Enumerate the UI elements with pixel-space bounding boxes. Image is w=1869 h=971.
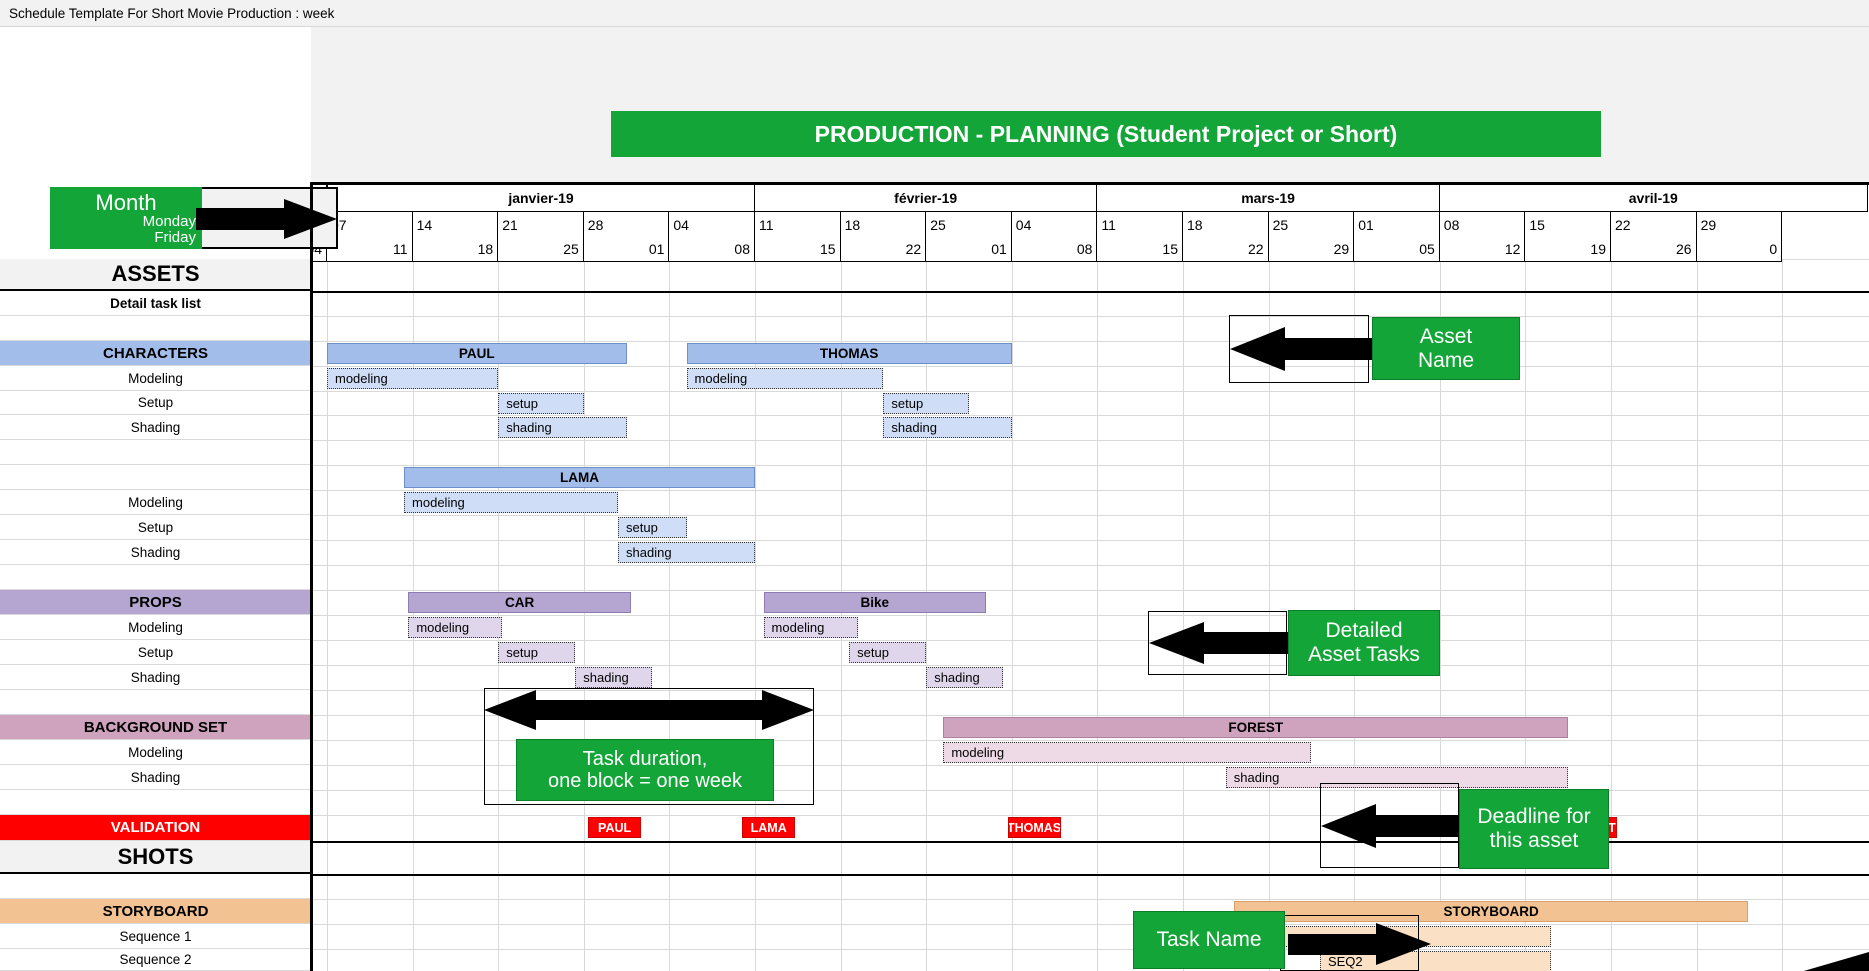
weekrow2-cell-8: 08 <box>1012 237 1098 262</box>
weekrow2-cell-label: 15 <box>1162 241 1178 257</box>
window-title: Schedule Template For Short Movie Produc… <box>9 6 334 21</box>
weekrow2-cell-2: 25 <box>498 237 584 262</box>
sidebar-item-bg-modeling[interactable]: Modeling <box>0 740 311 765</box>
weekrow2-cell-label: 08 <box>734 241 750 257</box>
annotation-deadline-text: Deadline for this asset <box>1477 805 1590 852</box>
gantt-bar-lama-setup[interactable]: setup <box>618 517 686 538</box>
annotation-task-name: Task Name <box>1133 911 1285 969</box>
sidebar-item-assets[interactable]: ASSETS <box>0 259 311 291</box>
legend-monday-label: Monday <box>143 214 202 230</box>
weekrow1-cell-label: 22 <box>1615 217 1631 233</box>
monday-row: 310714212804111825041118250108152229 <box>311 212 1869 237</box>
weekrow2-cell-label: 08 <box>1077 241 1093 257</box>
gantt-bar-label: setup <box>506 645 538 660</box>
weekrow1-cell-12: 01 <box>1354 212 1440 237</box>
sidebar-item-validation[interactable]: VALIDATION <box>0 815 311 841</box>
grid-hline <box>311 415 1869 416</box>
grid-hline <box>311 640 1869 641</box>
task-name-arrow-icon <box>1288 923 1433 965</box>
grid-hline <box>311 465 1869 466</box>
weekrow1-cell-label: 18 <box>1187 217 1203 233</box>
gantt-bar-car-mod[interactable]: modeling <box>408 617 502 638</box>
validation-marker-label: PAUL <box>598 821 631 835</box>
weekrow2-cell-4: 08 <box>669 237 755 262</box>
weekrow1-cell-15: 22 <box>1611 212 1697 237</box>
month-header-3: avril-19 <box>1440 185 1868 212</box>
month-header-label: avril-19 <box>1629 190 1678 206</box>
gantt-bar-paul-mod[interactable]: modeling <box>327 368 498 389</box>
gantt-bar-thomas-mod[interactable]: modeling <box>687 368 884 389</box>
grid-hline <box>311 440 1869 441</box>
row-label-column: ASSETS Detail task list CHARACTERS Model… <box>0 27 311 971</box>
weekrow1-cell-2: 21 <box>498 212 584 237</box>
weekrow2-cell-11: 29 <box>1269 237 1355 262</box>
month-header-2: mars-19 <box>1097 185 1439 212</box>
sidebar-item-storyboard[interactable]: STORYBOARD <box>0 899 311 924</box>
weekrow1-cell-label: 18 <box>845 217 861 233</box>
sidebar-spacer-1 <box>0 316 311 341</box>
gantt-bar-lama-mod[interactable]: modeling <box>404 492 618 513</box>
weekrow1-cell-14: 15 <box>1525 212 1611 237</box>
gantt-bar-label: PAUL <box>459 346 495 361</box>
gantt-bar-label: modeling <box>416 620 469 635</box>
month-header-label: janvier-19 <box>508 190 573 206</box>
weekrow1-cell-label: 04 <box>673 217 689 233</box>
validation-marker-thomas[interactable]: THOMAS <box>1008 817 1061 838</box>
weekrow1-cell-7: 25 <box>926 212 1012 237</box>
month-row: janvier-19février-19mars-19avril-19 <box>311 185 1869 212</box>
grid-hline <box>311 841 1869 843</box>
validation-marker-label: THOMAS <box>1008 821 1061 835</box>
weekrow1-cell-label: 04 <box>1016 217 1032 233</box>
weekrow2-cell-10: 22 <box>1183 237 1269 262</box>
annotation-deadline: Deadline for this asset <box>1459 789 1609 869</box>
grid-hline <box>311 815 1869 816</box>
weekrow1-cell-3: 28 <box>584 212 670 237</box>
sidebar-item-lama-setup[interactable]: Setup <box>0 515 311 540</box>
weekrow2-cell-9: 15 <box>1097 237 1183 262</box>
weekrow1-cell-label: 14 <box>417 217 433 233</box>
annotation-asset-name-text: Asset Name <box>1418 325 1474 372</box>
weekrow1-cell-label: 11 <box>1101 217 1116 233</box>
weekrow1-cell-label: 29 <box>1701 217 1717 233</box>
sidebar-item-props-modeling[interactable]: Modeling <box>0 615 311 640</box>
weekrow2-cell-5: 15 <box>755 237 841 262</box>
weekrow1-cell-11: 25 <box>1269 212 1355 237</box>
gantt-bar-label: shading <box>506 420 552 435</box>
sidebar-item-props-shading[interactable]: Shading <box>0 665 311 690</box>
gantt-bar-label: setup <box>626 520 658 535</box>
gantt-area[interactable]: PAULmodelingsetupshadingTHOMASmodelingse… <box>311 27 1869 971</box>
gantt-bar-thomas-shad[interactable]: shading <box>883 417 1011 438</box>
grid-hline <box>311 391 1869 392</box>
sidebar-item-char-modeling[interactable]: Modeling <box>0 366 311 391</box>
weekrow2-cell-label: 15 <box>820 241 836 257</box>
weekrow2-cell-label: 12 <box>1505 241 1521 257</box>
sidebar-item-props[interactable]: PROPS <box>0 590 311 615</box>
sidebar-spacer-2 <box>0 440 311 465</box>
weekrow2-cell-6: 22 <box>841 237 927 262</box>
weekrow2-cell-label: 0 <box>1769 241 1777 257</box>
sidebar-item-lama-shading[interactable]: Shading <box>0 540 311 565</box>
gantt-bar-label: THOMAS <box>820 346 879 361</box>
sidebar-item-sequence-1[interactable]: Sequence 1 <box>0 924 311 949</box>
gantt-bar-bike[interactable]: Bike <box>764 592 987 613</box>
weekrow2-cell-label: 29 <box>1334 241 1350 257</box>
grid-hline <box>311 874 1869 876</box>
gantt-bar-label: modeling <box>335 371 388 386</box>
weekrow2-cell-label: 26 <box>1676 241 1692 257</box>
sidebar-spacer-7 <box>0 874 311 899</box>
sidebar-item-char-shading[interactable]: Shading <box>0 415 311 440</box>
weekrow1-cell-16: 29 <box>1697 212 1783 237</box>
sidebar-spacer-6 <box>0 790 311 815</box>
window-title-bar: Schedule Template For Short Movie Produc… <box>0 0 1869 27</box>
deadline-arrow-icon <box>1320 804 1465 848</box>
weekrow1-cell-10: 18 <box>1183 212 1269 237</box>
weekrow1-cell-6: 18 <box>841 212 927 237</box>
gantt-bar-label: LAMA <box>560 470 599 485</box>
spreadsheet-canvas[interactable]: CGWIRE PRODUCTION - PLANNING (Student Pr… <box>0 27 1869 971</box>
weekrow1-cell-label: 15 <box>1529 217 1545 233</box>
grid-hline <box>311 515 1869 516</box>
weekrow1-cell-8: 04 <box>1012 212 1098 237</box>
weekrow2-cell-3: 01 <box>584 237 670 262</box>
timeline-header: janvier-19février-19mars-19avril-19 3107… <box>311 182 1869 259</box>
grid-hline <box>311 341 1869 342</box>
validation-marker-label: LAMA <box>751 821 787 835</box>
weekrow1-cell-label: 28 <box>588 217 604 233</box>
weekrow2-cell-14: 19 <box>1525 237 1611 262</box>
banner-text: PRODUCTION - PLANNING (Student Project o… <box>815 121 1398 148</box>
asset-name-arrow-icon <box>1229 327 1374 371</box>
weekrow2-cell-label: 01 <box>649 241 665 257</box>
annotation-asset-name: Asset Name <box>1372 317 1520 380</box>
sidebar-item-lama-modeling[interactable]: Modeling <box>0 490 311 515</box>
production-planning-banner: PRODUCTION - PLANNING (Student Project o… <box>611 111 1601 157</box>
gantt-bar-bike-mod[interactable]: modeling <box>764 617 858 638</box>
sidebar-item-sequence-2[interactable]: Sequence 2 <box>0 949 311 971</box>
month-header-1: février-19 <box>755 185 1097 212</box>
annotation-task-name-text: Task Name <box>1156 928 1261 952</box>
weekrow2-cell-label: 05 <box>1419 241 1435 257</box>
weekrow1-cell-label: 01 <box>1358 217 1374 233</box>
gantt-bar-paul-setup[interactable]: setup <box>498 393 584 414</box>
weekrow2-cell-label: 22 <box>906 241 922 257</box>
gantt-bar-label: Bike <box>861 595 890 610</box>
month-legend: Month Monday Friday <box>50 187 202 249</box>
weekrow2-cell-label: 18 <box>478 241 494 257</box>
month-legend-arrow-icon <box>196 199 338 239</box>
gantt-bar-label: CAR <box>505 595 534 610</box>
gantt-bar-paul-shad[interactable]: shading <box>498 417 626 438</box>
month-header-0: janvier-19 <box>327 185 755 212</box>
weekrow2-cell-label: 01 <box>991 241 1007 257</box>
sidebar-item-shots[interactable]: SHOTS <box>0 841 311 874</box>
legend-month-label: Month <box>95 191 156 214</box>
weekrow2-cell-7: 01 <box>926 237 1012 262</box>
task-duration-double-arrow-icon <box>484 690 814 730</box>
grid-hline <box>311 899 1869 900</box>
gantt-bar-label: setup <box>506 396 538 411</box>
gantt-bar-lama[interactable]: LAMA <box>404 467 755 488</box>
grid-hline <box>311 615 1869 616</box>
bottom-right-arrow-icon <box>1790 952 1869 971</box>
month-header-label: février-19 <box>894 190 957 206</box>
gantt-bar-thomas[interactable]: THOMAS <box>687 343 1012 364</box>
annotation-detailed-asset-tasks: Detailed Asset Tasks <box>1288 610 1440 676</box>
gantt-bar-lama-shad[interactable]: shading <box>618 542 755 563</box>
weekrow1-cell-label: 11 <box>759 217 774 233</box>
weekrow2-cell-12: 05 <box>1354 237 1440 262</box>
gantt-bar-label: shading <box>891 420 937 435</box>
gantt-bar-label: STORYBOARD <box>1444 904 1539 919</box>
sidebar-spacer-3 <box>0 465 311 490</box>
sidebar-item-detail-task-list[interactable]: Detail task list <box>0 291 311 316</box>
weekrow2-cell-label: 11 <box>393 241 408 257</box>
weekrow1-cell-9: 11 <box>1097 212 1183 237</box>
gantt-bar-car-shad[interactable]: shading <box>575 667 652 688</box>
weekrow1-cell-label: 21 <box>502 217 518 233</box>
grid-hline <box>311 665 1869 666</box>
sidebar-item-background-set[interactable]: BACKGROUND SET <box>0 715 311 740</box>
grid-hline <box>311 924 1869 925</box>
weekrow1-cell-label: 25 <box>930 217 946 233</box>
validation-marker-paul[interactable]: PAUL <box>588 817 641 838</box>
weekrow1-cell-1: 14 <box>413 212 499 237</box>
weekrow1-cell-label: 25 <box>1273 217 1289 233</box>
annotation-detailed-asset-tasks-text: Detailed Asset Tasks <box>1308 619 1420 666</box>
annotation-task-duration: Task duration, one block = one week <box>516 739 774 801</box>
gantt-bar-paul[interactable]: PAUL <box>327 343 627 364</box>
friday-row: 04111825010815220108152229051219260 <box>311 237 1869 262</box>
gantt-bar-label: modeling <box>772 620 825 635</box>
weekrow2-cell-label: 22 <box>1248 241 1264 257</box>
grid-hline <box>311 366 1869 367</box>
sidebar-item-bg-shading[interactable]: Shading <box>0 765 311 790</box>
grid-hline <box>311 590 1869 591</box>
gantt-bar-label: shading <box>583 670 629 685</box>
gantt-bar-label: modeling <box>412 495 465 510</box>
weekrow1-cell-5: 11 <box>755 212 841 237</box>
sidebar-item-props-setup[interactable]: Setup <box>0 640 311 665</box>
gantt-bar-bike-shad[interactable]: shading <box>926 667 1003 688</box>
validation-marker-lama[interactable]: LAMA <box>742 817 795 838</box>
sidebar-spacer-4 <box>0 565 311 590</box>
sidebar-item-characters[interactable]: CHARACTERS <box>0 341 311 366</box>
gantt-bar-label: shading <box>934 670 980 685</box>
grid-hline <box>311 540 1869 541</box>
gantt-bar-forest-mod[interactable]: modeling <box>943 742 1311 763</box>
weekrow1-cell-4: 04 <box>669 212 755 237</box>
left-column-divider <box>310 182 313 971</box>
weekrow2-cell-0: 11 <box>327 237 413 262</box>
grid-hline <box>311 949 1869 950</box>
weekrow1-cell-0: 07 <box>327 212 413 237</box>
weekrow1-cell-13: 08 <box>1440 212 1526 237</box>
grid-hline <box>311 316 1869 317</box>
grid-hline <box>311 490 1869 491</box>
grid-hline <box>311 291 1869 293</box>
gantt-bar-label: setup <box>857 645 889 660</box>
gantt-bar-car[interactable]: CAR <box>408 592 631 613</box>
gantt-bar-label: shading <box>1234 770 1280 785</box>
gantt-bar-label: modeling <box>951 745 1004 760</box>
detailed-asset-tasks-arrow-icon <box>1148 622 1293 664</box>
gantt-bar-bike-setup[interactable]: setup <box>849 642 926 663</box>
sidebar-item-char-setup[interactable]: Setup <box>0 391 311 415</box>
month-header-label: mars-19 <box>1241 190 1295 206</box>
gantt-bar-thomas-setup[interactable]: setup <box>883 393 969 414</box>
legend-friday-label: Friday <box>154 230 202 246</box>
gantt-bar-label: modeling <box>695 371 748 386</box>
annotation-task-duration-text: Task duration, one block = one week <box>548 748 742 793</box>
sidebar-spacer-5 <box>0 690 311 715</box>
weekrow2-cell-label: 19 <box>1590 241 1606 257</box>
weekrow2-cell-16: 0 <box>1697 237 1783 262</box>
weekrow2-cell-15: 26 <box>1611 237 1697 262</box>
gantt-bar-label: setup <box>891 396 923 411</box>
grid-hline <box>311 565 1869 566</box>
weekrow1-cell-label: 08 <box>1444 217 1460 233</box>
weekrow2-cell-label: 25 <box>563 241 579 257</box>
gantt-bar-forest[interactable]: FOREST <box>943 717 1568 738</box>
gantt-bar-label: shading <box>626 545 672 560</box>
gantt-bar-label: FOREST <box>1228 720 1283 735</box>
weekrow2-cell-1: 18 <box>413 237 499 262</box>
weekrow2-cell-13: 12 <box>1440 237 1526 262</box>
gantt-bar-car-setup[interactable]: setup <box>498 642 575 663</box>
